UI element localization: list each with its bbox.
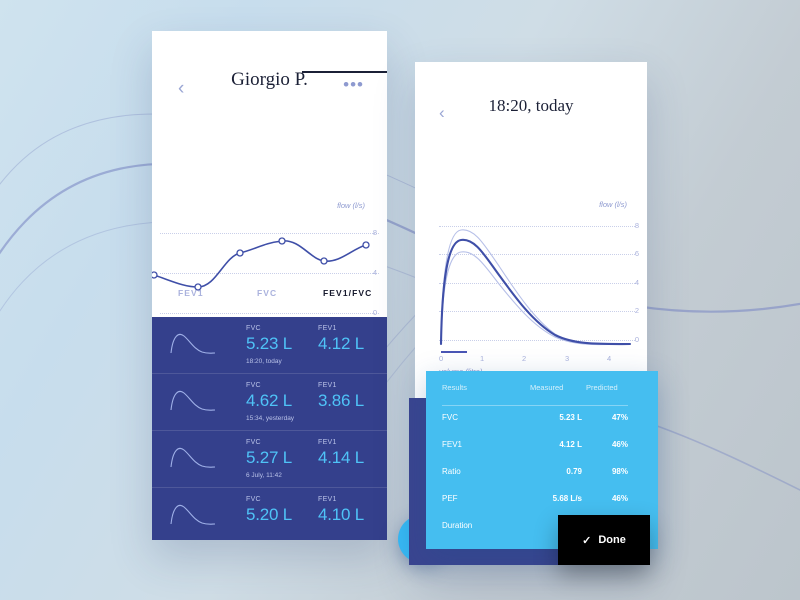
- chart-y-axis-label: flow (l/s): [599, 200, 627, 209]
- result-measured: 0.79: [530, 467, 582, 476]
- result-predicted: 46%: [586, 494, 628, 503]
- page-title: 18:20, today: [415, 96, 647, 116]
- done-button-label: Done: [598, 534, 626, 546]
- tab-fev1[interactable]: FEV1: [178, 288, 204, 298]
- fev1-value: 3.86 L: [318, 391, 364, 411]
- fvc-label: FVC: [246, 382, 261, 389]
- sparkline-icon: [170, 502, 216, 526]
- result-measured: 4.12 L: [530, 440, 582, 449]
- results-col-header: Results: [442, 383, 467, 392]
- table-row: Ratio 0.79 98%: [426, 459, 658, 486]
- fvc-value: 5.27 L: [246, 448, 292, 468]
- timestamp: 6 July, 11:42: [246, 472, 282, 479]
- measurement-list: FVC 5.23 L FEV1 4.12 L 18:20, today FVC …: [152, 317, 387, 540]
- timestamp: 15:34, yesterday: [246, 415, 294, 422]
- overflow-menu-icon[interactable]: •••: [343, 75, 364, 95]
- x-tick: 3: [565, 354, 569, 363]
- fev1-value: 4.10 L: [318, 505, 364, 525]
- list-item[interactable]: FVC 5.27 L FEV1 4.14 L 6 July, 11:42: [152, 430, 387, 487]
- result-name: FVC: [442, 413, 458, 422]
- x-tick: 0: [439, 354, 443, 363]
- result-predicted: 47%: [586, 413, 628, 422]
- table-row: PEF 5.68 L/s 46%: [426, 486, 658, 513]
- fvc-label: FVC: [246, 325, 261, 332]
- metric-tabs: FEV1 FVC FEV1/FVC: [152, 276, 387, 317]
- fev1-label: FEV1: [318, 325, 337, 332]
- phone2-header: ‹ 18:20, today: [415, 62, 647, 122]
- fvc-label: FVC: [246, 496, 261, 503]
- tab-fev1-fvc[interactable]: FEV1/FVC: [323, 288, 372, 298]
- result-name: PEF: [442, 494, 458, 503]
- fev1-label: FEV1: [318, 439, 337, 446]
- x-tick: 1: [480, 354, 484, 363]
- measured-col-header: Measured: [530, 383, 563, 392]
- active-tab-indicator: [302, 71, 387, 73]
- result-measured: 5.68 L/s: [530, 494, 582, 503]
- result-predicted: 46%: [586, 440, 628, 449]
- fvc-value: 5.23 L: [246, 334, 292, 354]
- result-name: FEV1: [442, 440, 462, 449]
- flow-volume-curves: [415, 218, 647, 350]
- result-predicted: 98%: [586, 467, 628, 476]
- result-name: Duration: [442, 521, 472, 530]
- done-button[interactable]: ✓ Done: [558, 515, 650, 565]
- fev1-value: 4.12 L: [318, 334, 364, 354]
- background-decoration: [0, 0, 800, 600]
- timestamp: 18:20, today: [246, 358, 282, 365]
- results-header-row: Results Measured Predicted: [426, 371, 658, 405]
- fev1-label: FEV1: [318, 382, 337, 389]
- chart-y-axis-label: flow (l/s): [337, 201, 365, 210]
- fvc-label: FVC: [246, 439, 261, 446]
- fev1-label: FEV1: [318, 496, 337, 503]
- sparkline-icon: [170, 331, 216, 355]
- sparkline-icon: [170, 388, 216, 412]
- tab-fvc[interactable]: FVC: [257, 288, 277, 298]
- x-tick: 4: [607, 354, 611, 363]
- table-row: FVC 5.23 L 47%: [426, 405, 658, 432]
- list-item[interactable]: FVC 5.23 L FEV1 4.12 L 18:20, today: [152, 317, 387, 373]
- result-name: Ratio: [442, 467, 461, 476]
- phone1-header: ‹ Giorgio P. •••: [152, 31, 387, 91]
- check-icon: ✓: [582, 534, 591, 547]
- x-tick: 2: [522, 354, 526, 363]
- sparkline-icon: [170, 445, 216, 469]
- active-test-tab-indicator: [441, 351, 467, 353]
- table-row: FEV1 4.12 L 46%: [426, 432, 658, 459]
- fev1-value: 4.14 L: [318, 448, 364, 468]
- fvc-value: 5.20 L: [246, 505, 292, 525]
- list-item[interactable]: FVC 5.20 L FEV1 4.10 L: [152, 487, 387, 540]
- predicted-col-header: Predicted: [586, 383, 618, 392]
- result-measured: 5.23 L: [530, 413, 582, 422]
- fvc-value: 4.62 L: [246, 391, 292, 411]
- phone-screen-patient: ‹ Giorgio P. ••• flow (l/s) 8 4 0 16 17 …: [152, 31, 387, 540]
- list-item[interactable]: FVC 4.62 L FEV1 3.86 L 15:34, yesterday: [152, 373, 387, 430]
